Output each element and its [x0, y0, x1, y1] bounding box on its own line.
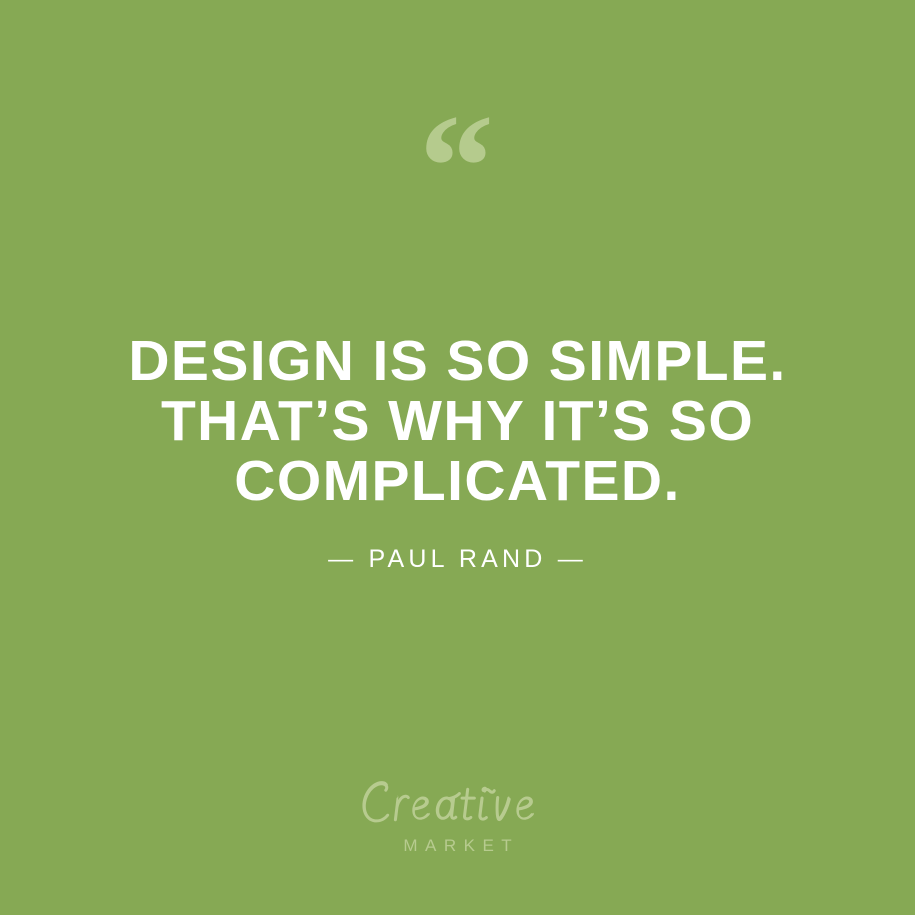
creative-script-wordmark-icon: Creative — [354, 775, 562, 831]
quote-line-2: THAT’S WHY IT’S SO — [0, 391, 915, 451]
quote-attribution: — PAUL RAND — — [0, 543, 915, 575]
creative-market-logo: Creative MARKET — [0, 775, 915, 855]
quote-card: “ DESIGN IS SO SIMPLE. THAT’S WHY IT’S S… — [0, 0, 915, 915]
quote-text-block: DESIGN IS SO SIMPLE. THAT’S WHY IT’S SO … — [0, 331, 915, 511]
left-double-quotation-mark-icon: “ — [0, 92, 915, 242]
quote-line-1: DESIGN IS SO SIMPLE. — [0, 331, 915, 391]
logo-subtitle: MARKET — [0, 837, 915, 855]
quote-line-3: COMPLICATED. — [0, 451, 915, 511]
